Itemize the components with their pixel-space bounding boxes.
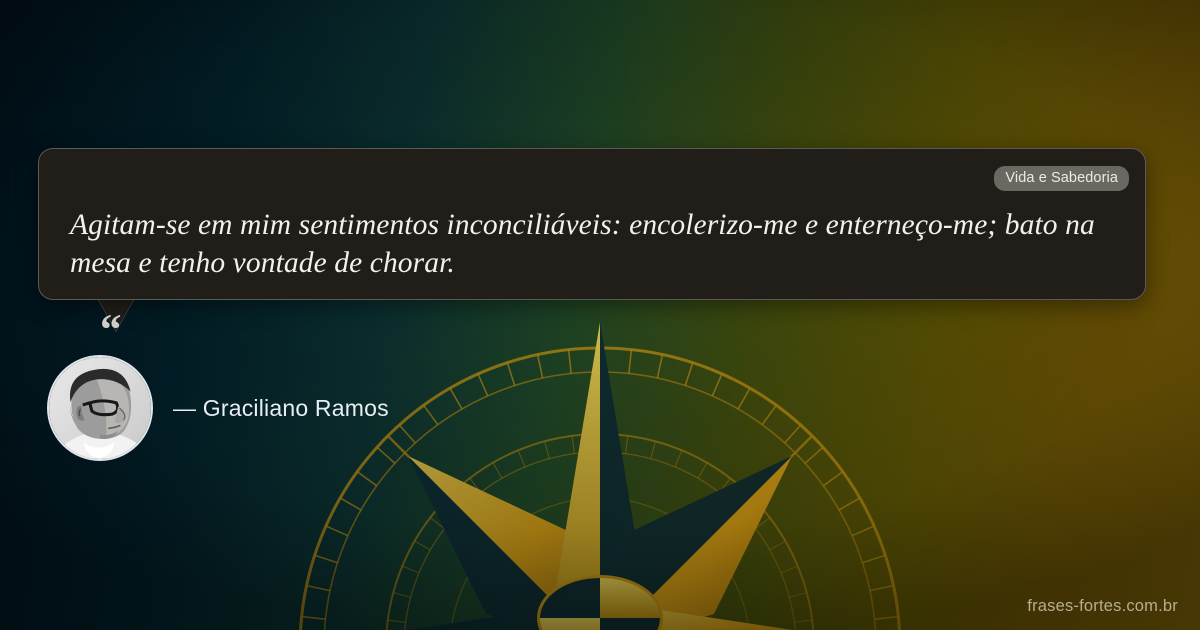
author-name: — Graciliano Ramos [173,395,389,422]
site-watermark: frases-fortes.com.br [1027,597,1178,616]
quote-card: Vida e Sabedoria “ Agitam-se em mim sent… [38,148,1146,300]
author-row: — Graciliano Ramos [47,355,389,461]
quotation-mark-icon: “ [100,309,123,352]
background-vignette [0,0,1200,630]
avatar [47,355,153,461]
quote-text: Agitam-se em mim sentimentos inconciliáv… [70,206,1117,283]
category-badge[interactable]: Vida e Sabedoria [994,166,1129,191]
quote-card-image: S E V Vida e Sabedoria “ Agitam-se em mi… [0,0,1200,630]
